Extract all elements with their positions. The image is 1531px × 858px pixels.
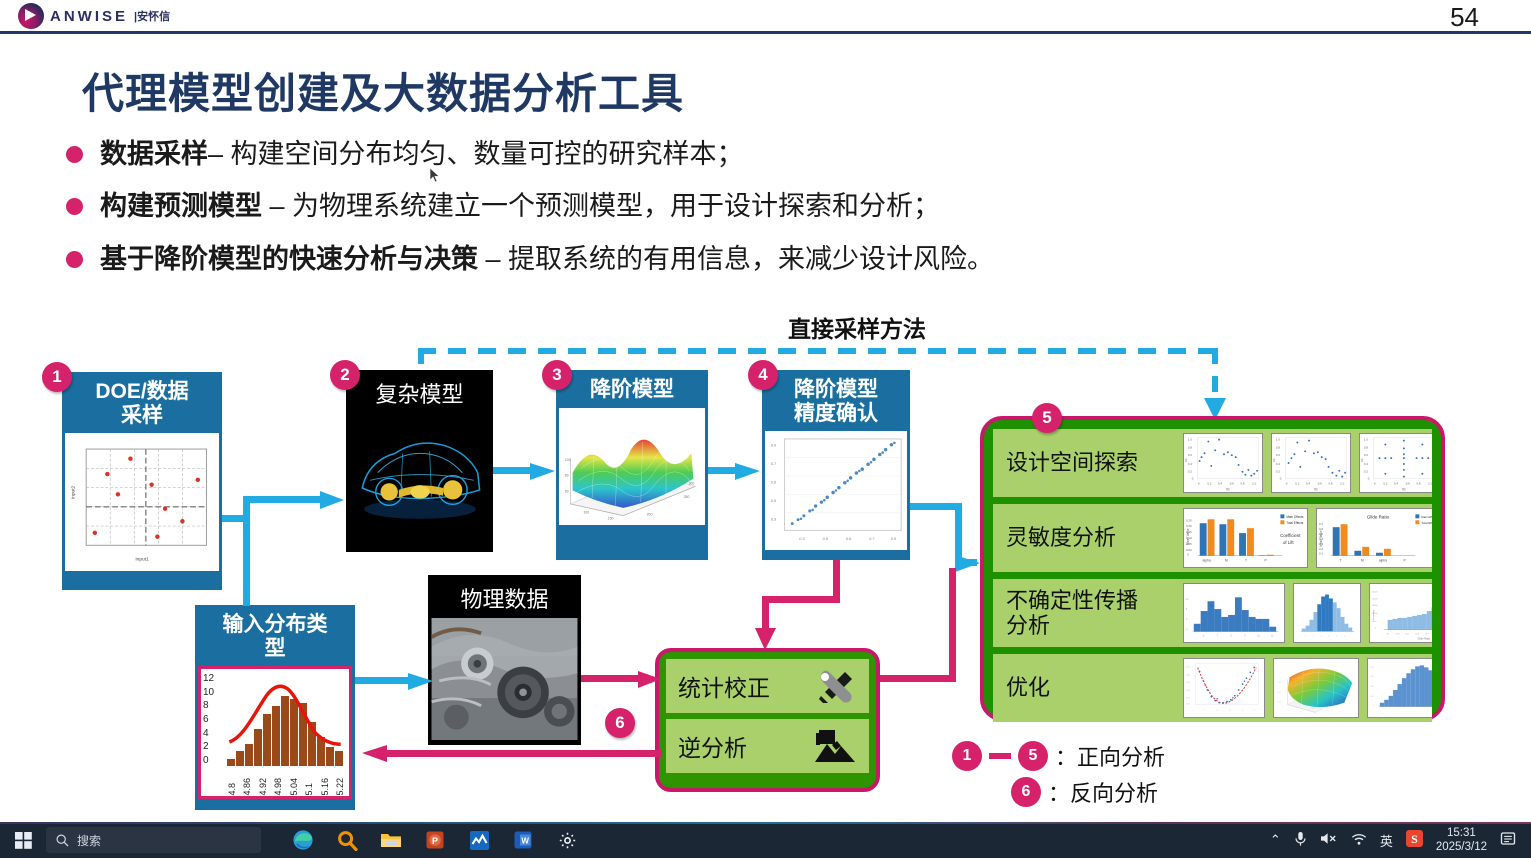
node-rom-accuracy-label: 降阶模型精度确认 (765, 373, 907, 431)
svg-text:0.2: 0.2 (1364, 470, 1368, 474)
svg-text:80: 80 (565, 473, 569, 477)
histogram-x-axis: 4.84.864.924.98 5.045.15.165.22 (227, 778, 345, 796)
svg-text:150: 150 (608, 516, 614, 520)
svg-text:alpha: alpha (1203, 559, 1211, 563)
svg-text:0.9: 0.9 (771, 443, 776, 448)
svg-text:0.6: 0.6 (846, 536, 851, 541)
svg-text:20000: 20000 (1372, 598, 1378, 600)
svg-text:T: T (1245, 559, 1247, 563)
svg-text:200: 200 (647, 512, 653, 516)
panel-row-uncertainty[interactable]: 不确定性传播分析 (993, 579, 1432, 647)
volume-muted-icon[interactable] (1320, 831, 1338, 849)
svg-text:1: 1 (1383, 713, 1385, 714)
svg-text:1.0: 1.0 (1364, 438, 1368, 442)
svg-text:0.7: 0.7 (771, 461, 776, 466)
svg-text:P: P (432, 836, 438, 846)
svg-text:-1: -1 (1216, 709, 1218, 711)
connector-2-to-3 (493, 467, 535, 474)
connector-statbox-to-5-a (880, 675, 956, 682)
svg-text:0.4: 0.4 (1276, 462, 1280, 466)
connector-inverse-to-input-dist (386, 750, 662, 757)
svg-text:15000: 15000 (1372, 605, 1378, 607)
svg-text:0.15: 0.15 (1186, 698, 1190, 700)
logo-text-cn: |安怀信 (134, 8, 170, 24)
design-space-exploration-2-chart: 1.00.80.6 0.40.20 X2 00.20.4 0.60.81.0 X… (1271, 433, 1351, 493)
input-distribution-histogram-chart: 121086420 4.84.864.924.98 5.045. (198, 666, 352, 799)
svg-text:0.4: 0.4 (1306, 481, 1310, 485)
svg-text:250: 250 (684, 495, 690, 499)
svg-text:0.3: 0.3 (771, 517, 776, 522)
optimization-reliability-histogram-chart: 200015001000 5000 1 (1367, 658, 1432, 718)
svg-text:Glide Ratio: Glide Ratio (1418, 637, 1431, 640)
bullet-dot-icon (66, 146, 83, 163)
system-tray: ⌃ 英 S 15:31 2025/3/12 (1270, 826, 1531, 855)
normal-curve-overlay (227, 677, 343, 747)
connector-arrow-back-to-input-icon (360, 744, 388, 764)
taskbar-accent-strip (0, 822, 1531, 824)
panel-row-thumbs: 0.250.200.15 0.100.050.00 0 Mean Value a… (1183, 504, 1432, 572)
design-space-exploration-1-chart: 1.00.80.6 0.40.20 X2 00.20.4 0.60.81.0 X… (1183, 433, 1263, 493)
svg-text:25000: 25000 (1372, 591, 1378, 593)
stat-row-label: 统计校正 (678, 669, 770, 703)
sogou-input-icon[interactable]: S (1406, 830, 1423, 850)
legend-dash-icon (989, 753, 1011, 759)
legend-forward-label: ：正向分析 (1055, 740, 1165, 772)
panel-row-thumbs: 1.00.80.6 0.40.20 X2 00.20.4 0.60.81.0 X… (1183, 429, 1432, 497)
search-icon (56, 834, 69, 847)
svg-text:0.8: 0.8 (1416, 481, 1420, 485)
mouse-cursor-icon (430, 168, 441, 183)
node-complex-model[interactable]: 复杂模型 (346, 370, 493, 552)
svg-text:0.5: 0.5 (823, 536, 828, 541)
dashed-line-horizontal (418, 348, 1218, 354)
windows-taskbar[interactable]: 搜索 (0, 822, 1531, 858)
svg-text:0.00: 0.00 (1186, 548, 1192, 552)
svg-text:S: S (1411, 832, 1418, 846)
panel-row-label: 灵敏度分析 (993, 525, 1183, 550)
step-badge-4: 4 (748, 360, 778, 390)
uncertainty-propagation-2-chart: ||| ||| (1293, 583, 1361, 643)
car-wireframe-image (346, 413, 493, 538)
svg-text:M: M (1225, 559, 1228, 563)
svg-text:Glide Ratio: Glide Ratio (1367, 514, 1390, 519)
connector-arrow-physical-statbox-icon (638, 670, 662, 690)
node-input-distribution[interactable]: 输入分布类型 121086420 (195, 605, 355, 810)
step-badge-1: 1 (42, 362, 72, 392)
svg-text:0.30: 0.30 (1186, 674, 1190, 676)
node-doe-sampling[interactable]: DOE/数据采样 (62, 372, 222, 590)
svg-text:0.3: 0.3 (1278, 682, 1281, 684)
svg-text:0.6: 0.6 (1406, 481, 1410, 485)
svg-text:0.2: 0.2 (1207, 481, 1211, 485)
stat-row-label: 逆分析 (678, 729, 747, 763)
taskbar-app-icons: P W (291, 828, 579, 852)
svg-text:Frequency: Frequency (1373, 609, 1375, 620)
connector-arrow-to-node3-icon (530, 462, 556, 482)
svg-text:0.8: 0.8 (1328, 481, 1332, 485)
node-rom-label: 降阶模型 (559, 373, 705, 408)
bullet-dot-icon (66, 251, 83, 268)
legend-reverse-label: ：反向分析 (1048, 776, 1158, 808)
svg-text:0.1: 0.1 (1319, 552, 1323, 556)
connector-4-to-6-b (762, 596, 840, 603)
edge-icon[interactable] (291, 828, 315, 852)
node-doe-sampling-label: DOE/数据采样 (65, 375, 219, 433)
svg-text:0.8: 0.8 (1188, 445, 1192, 449)
svg-text:100: 100 (565, 458, 571, 462)
svg-text:0.7: 0.7 (1319, 522, 1323, 526)
svg-text:0.4: 0.4 (1364, 462, 1368, 466)
sensitivity-glide-ratio-chart: Glide Ratio 0.70.60.5 0.40.30.2 0.1 Mean… (1316, 508, 1432, 568)
svg-text:M: M (1361, 559, 1364, 563)
clock-time: 15:31 (1447, 827, 1476, 839)
panel-row-label: 优化 (993, 675, 1183, 700)
legend-badge-1: 1 (952, 741, 982, 771)
svg-text:2: 2 (1254, 709, 1255, 711)
sensitivity-coefficient-of-lift-chart: 0.250.200.15 0.100.050.00 0 Mean Value a… (1183, 508, 1308, 568)
bullet-strong: 构建预测模型 (100, 191, 262, 221)
panel-row-optimization[interactable]: 优化 (993, 654, 1432, 722)
svg-text:39: 39 (1387, 634, 1389, 636)
svg-text:2000: 2000 (1370, 666, 1374, 668)
clock-date: 2025/3/12 (1436, 841, 1487, 853)
engine-photo (428, 618, 581, 740)
settings-gear-icon[interactable] (555, 828, 579, 852)
svg-text:1000: 1000 (1370, 686, 1374, 688)
svg-text:500: 500 (1370, 696, 1373, 698)
windows-icon (15, 832, 32, 849)
panel-row-thumbs: 12840 678 91011 (1183, 579, 1432, 647)
svg-text:300: 300 (688, 481, 694, 485)
start-button[interactable] (0, 832, 46, 849)
rom-accuracy-scatter-chart: 0.90.70.6 0.50.3 0.30.50.6 0.70.9 (765, 431, 907, 550)
design-space-exploration-3-chart: 1.00.80.6 0.40.20 X2 00.20.4 0.60.81.0 X… (1359, 433, 1432, 493)
svg-text:0.35: 0.35 (1186, 667, 1190, 669)
svg-text:Total Effects: Total Effects (1286, 521, 1303, 525)
rom-response-surface-chart: 1008060 100150200 250300 (559, 408, 705, 525)
show-hidden-icons-chevron-icon[interactable]: ⌃ (1270, 832, 1281, 848)
svg-text:Mean Value: Mean Value (1319, 530, 1323, 547)
anwise-logo-icon (18, 3, 44, 29)
svg-text:Coefficient: Coefficient (1280, 533, 1301, 538)
svg-text:0: 0 (1280, 477, 1282, 481)
ime-indicator[interactable]: 英 (1380, 831, 1393, 850)
svg-text:0.20: 0.20 (1186, 524, 1192, 528)
direct-sampling-label: 直接采样方法 (788, 310, 926, 344)
svg-text:T: T (1340, 559, 1342, 563)
svg-text:0.6: 0.6 (1188, 453, 1192, 457)
svg-text:X2: X2 (1184, 458, 1188, 462)
svg-text:1.0: 1.0 (1340, 481, 1344, 485)
svg-text:0: 0 (1373, 705, 1374, 707)
svg-text:0.6: 0.6 (1364, 453, 1368, 457)
page-number: 54 (1450, 2, 1479, 33)
svg-text:0: 0 (1192, 477, 1194, 481)
svg-text:40.1: 40.1 (1405, 634, 1409, 636)
connector-1-to-2-c (243, 496, 325, 503)
connector-1-to-input-dist (243, 496, 250, 606)
svg-text:0.4: 0.4 (1394, 481, 1398, 485)
svg-text:0: 0 (1198, 481, 1200, 485)
svg-text:0.2: 0.2 (1295, 481, 1299, 485)
notifications-icon[interactable] (1500, 831, 1517, 850)
connector-statbox-to-5-b (949, 568, 956, 682)
panel-analysis-capabilities[interactable]: 设计空间探索 (980, 416, 1445, 721)
bullet-strong: 数据采样 (100, 139, 208, 169)
svg-text:Mean Value: Mean Value (1186, 528, 1190, 545)
svg-text:0.1: 0.1 (1278, 702, 1281, 704)
wifi-icon[interactable] (1351, 832, 1367, 849)
svg-text:0.5: 0.5 (771, 498, 776, 503)
optimization-response-surface-chart: 0.30.20.1 (1273, 658, 1359, 718)
panel-row-sensitivity[interactable]: 灵敏度分析 0.250.200.15 0.100.050.00 0 (993, 504, 1432, 572)
panel-row-design-space[interactable]: 设计空间探索 (993, 429, 1432, 497)
svg-text:0.8: 0.8 (1240, 481, 1244, 485)
svg-text:0.6: 0.6 (1230, 481, 1234, 485)
svg-text:0: 0 (1229, 709, 1230, 711)
anwise-logo: ANWISE |安怀信 (18, 3, 170, 29)
svg-text:Main Effects: Main Effects (1286, 515, 1304, 519)
svg-text:0.8: 0.8 (1276, 445, 1280, 449)
file-explorer-icon[interactable] (379, 828, 403, 852)
svg-text:39.8: 39.8 (1396, 634, 1400, 636)
search-taskbar-icon[interactable] (335, 828, 359, 852)
legend-badge-5: 5 (1018, 741, 1048, 771)
connector-arrow-to-physical-icon (408, 672, 434, 692)
step-badge-5: 5 (1032, 403, 1062, 433)
logo-text: ANWISE (50, 8, 128, 25)
process-diagram: 直接采样方法 1 DOE/数据采样 (0, 300, 1531, 820)
dashed-line-vertical-right (1212, 348, 1218, 403)
svg-text:60: 60 (565, 489, 569, 493)
svg-text:0.9: 0.9 (891, 536, 896, 541)
svg-text:0.3: 0.3 (799, 536, 804, 541)
slide-header: ANWISE |安怀信 54 (0, 0, 1531, 32)
node-rom[interactable]: 降阶模型 (556, 370, 708, 560)
svg-text:1.0: 1.0 (1252, 481, 1256, 485)
node-rom-accuracy[interactable]: 降阶模型精度确认 (762, 370, 910, 560)
bullet-list: 数据采样– 构建空间分布均匀、数量可控的研究样本； 构建预测模型 – 为物理系统… (66, 136, 1366, 293)
header-divider (0, 31, 1531, 34)
svg-text:alpha: alpha (1379, 559, 1387, 563)
svg-text:0.2: 0.2 (1276, 470, 1280, 474)
step-badge-2: 2 (330, 360, 360, 390)
svg-text:0.4: 0.4 (1218, 481, 1222, 485)
step-badge-6: 6 (605, 708, 635, 738)
svg-text:0.2: 0.2 (1188, 470, 1192, 474)
svg-text:0.6: 0.6 (771, 480, 776, 485)
histogram-y-axis: 121086420 (203, 673, 214, 766)
bullet-rest: – 为物理系统建立一个预测模型，用于设计探索和分析； (262, 191, 940, 221)
clock[interactable]: 15:31 2025/3/12 (1436, 826, 1487, 855)
connector-arrow-to-node2-icon (320, 488, 346, 512)
list-item: 数据采样– 构建空间分布均匀、数量可控的研究样本； (66, 136, 1366, 172)
stat-row-inverse[interactable]: 逆分析 (666, 719, 869, 773)
doe-sampling-scatter-chart: Input1 Input2 (65, 433, 219, 571)
connector-arrow-to-panel5-icon (955, 554, 981, 574)
bullet-strong: 基于降阶模型的快速分析与决策 (100, 244, 478, 274)
svg-text:Main Effects: Main Effects (1421, 515, 1432, 519)
svg-text:0.25: 0.25 (1186, 518, 1192, 522)
svg-text:0.8: 0.8 (1364, 445, 1368, 449)
list-item: 基于降阶模型的快速分析与决策 – 提取系统的有用信息，来减少设计风险。 (66, 241, 1366, 277)
step-badge-3: 3 (542, 360, 572, 390)
connector-arrow-to-node4-icon (735, 462, 761, 482)
svg-text:0.7: 0.7 (869, 536, 874, 541)
uncertainty-propagation-3-chart: 250002000015000 1000050000 Frequency 393… (1369, 583, 1432, 643)
presentation-slide: ANWISE |安怀信 54 代理模型创建及大数据分析工具 数据采样– 构建空间… (0, 0, 1531, 858)
panel-statistics-tools[interactable]: 统计校正 逆分析 (655, 648, 880, 792)
word-icon[interactable]: W (511, 828, 535, 852)
node-physical-data[interactable]: 物理数据 (428, 575, 581, 745)
svg-text:Total Effects: Total Effects (1421, 521, 1432, 525)
svg-text:X1: X1 (1314, 487, 1318, 491)
microphone-icon[interactable] (1294, 831, 1307, 850)
chart-app-icon[interactable] (467, 828, 491, 852)
svg-text:0.6: 0.6 (1318, 481, 1322, 485)
svg-text:0.6: 0.6 (1276, 453, 1280, 457)
node-input-distribution-label: 输入分布类型 (198, 608, 352, 666)
stat-row-calibration[interactable]: 统计校正 (666, 659, 869, 713)
svg-text:1.0: 1.0 (1276, 438, 1280, 442)
wrench-screwdriver-icon (815, 668, 857, 704)
svg-text:0: 0 (1286, 481, 1288, 485)
legend-badge-6: 6 (1011, 777, 1041, 807)
panel-row-label: 不确定性传播分析 (993, 588, 1183, 639)
svg-text:0.25: 0.25 (1186, 682, 1190, 684)
svg-text:0.20: 0.20 (1186, 690, 1190, 692)
svg-text:0: 0 (1368, 477, 1370, 481)
bullet-rest: – 构建空间分布均匀、数量可控的研究样本； (208, 139, 744, 169)
bullet-dot-icon (66, 198, 83, 215)
search-input[interactable]: 搜索 (46, 827, 261, 853)
connector-3-to-4 (708, 467, 738, 474)
search-placeholder: 搜索 (77, 832, 101, 849)
powerpoint-icon[interactable]: P (423, 828, 447, 852)
optimization-convergence-chart: 0.350.300.25 0.200.150.10 -2-10 12 (1183, 658, 1265, 718)
node-complex-model-label: 复杂模型 (346, 370, 493, 413)
panel-row-label: 设计空间探索 (993, 450, 1183, 475)
page-title: 代理模型创建及大数据分析工具 (82, 60, 684, 121)
svg-text:0.10: 0.10 (1186, 704, 1190, 706)
svg-text:X2: X2 (1360, 458, 1364, 462)
svg-text:X1: X1 (1226, 487, 1230, 491)
svg-text:Input2: Input2 (71, 485, 77, 499)
svg-text:1500: 1500 (1370, 676, 1374, 678)
uncertainty-propagation-1-chart: 12840 678 91011 (1183, 583, 1285, 643)
svg-text:100: 100 (583, 510, 589, 514)
node-physical-data-label: 物理数据 (428, 575, 581, 618)
legend-forward: 1 5 ：正向分析 (952, 740, 1165, 772)
legend-reverse: 6 ：反向分析 (952, 776, 1165, 808)
connector-arrow-to-statbox-icon (755, 628, 777, 652)
svg-text:1.0: 1.0 (1428, 481, 1432, 485)
svg-text:of Lift: of Lift (1283, 540, 1294, 545)
diagram-legend: 1 5 ：正向分析 6 ：反向分析 (952, 740, 1165, 812)
svg-text:-2: -2 (1203, 709, 1205, 711)
svg-text:0.2: 0.2 (1383, 481, 1387, 485)
svg-text:W: W (521, 836, 529, 845)
svg-text:1.0: 1.0 (1188, 438, 1192, 442)
bullet-rest: – 提取系统的有用信息，来减少设计风险。 (478, 244, 994, 274)
svg-text:0.2: 0.2 (1278, 692, 1281, 694)
svg-text:X2: X2 (1272, 458, 1276, 462)
svg-text:1: 1 (1242, 709, 1243, 711)
panel-row-thumbs: 0.350.300.25 0.200.150.10 -2-10 12 (1183, 654, 1432, 722)
svg-text:Input1: Input1 (135, 557, 149, 563)
svg-text:0: 0 (1374, 481, 1376, 485)
svg-text:40.7: 40.7 (1425, 634, 1429, 636)
inverse-analysis-icon (815, 728, 857, 764)
svg-text:X1: X1 (1402, 487, 1406, 491)
svg-text:0.4: 0.4 (1188, 462, 1192, 466)
list-item: 构建预测模型 – 为物理系统建立一个预测模型，用于设计探索和分析； (66, 188, 1366, 224)
